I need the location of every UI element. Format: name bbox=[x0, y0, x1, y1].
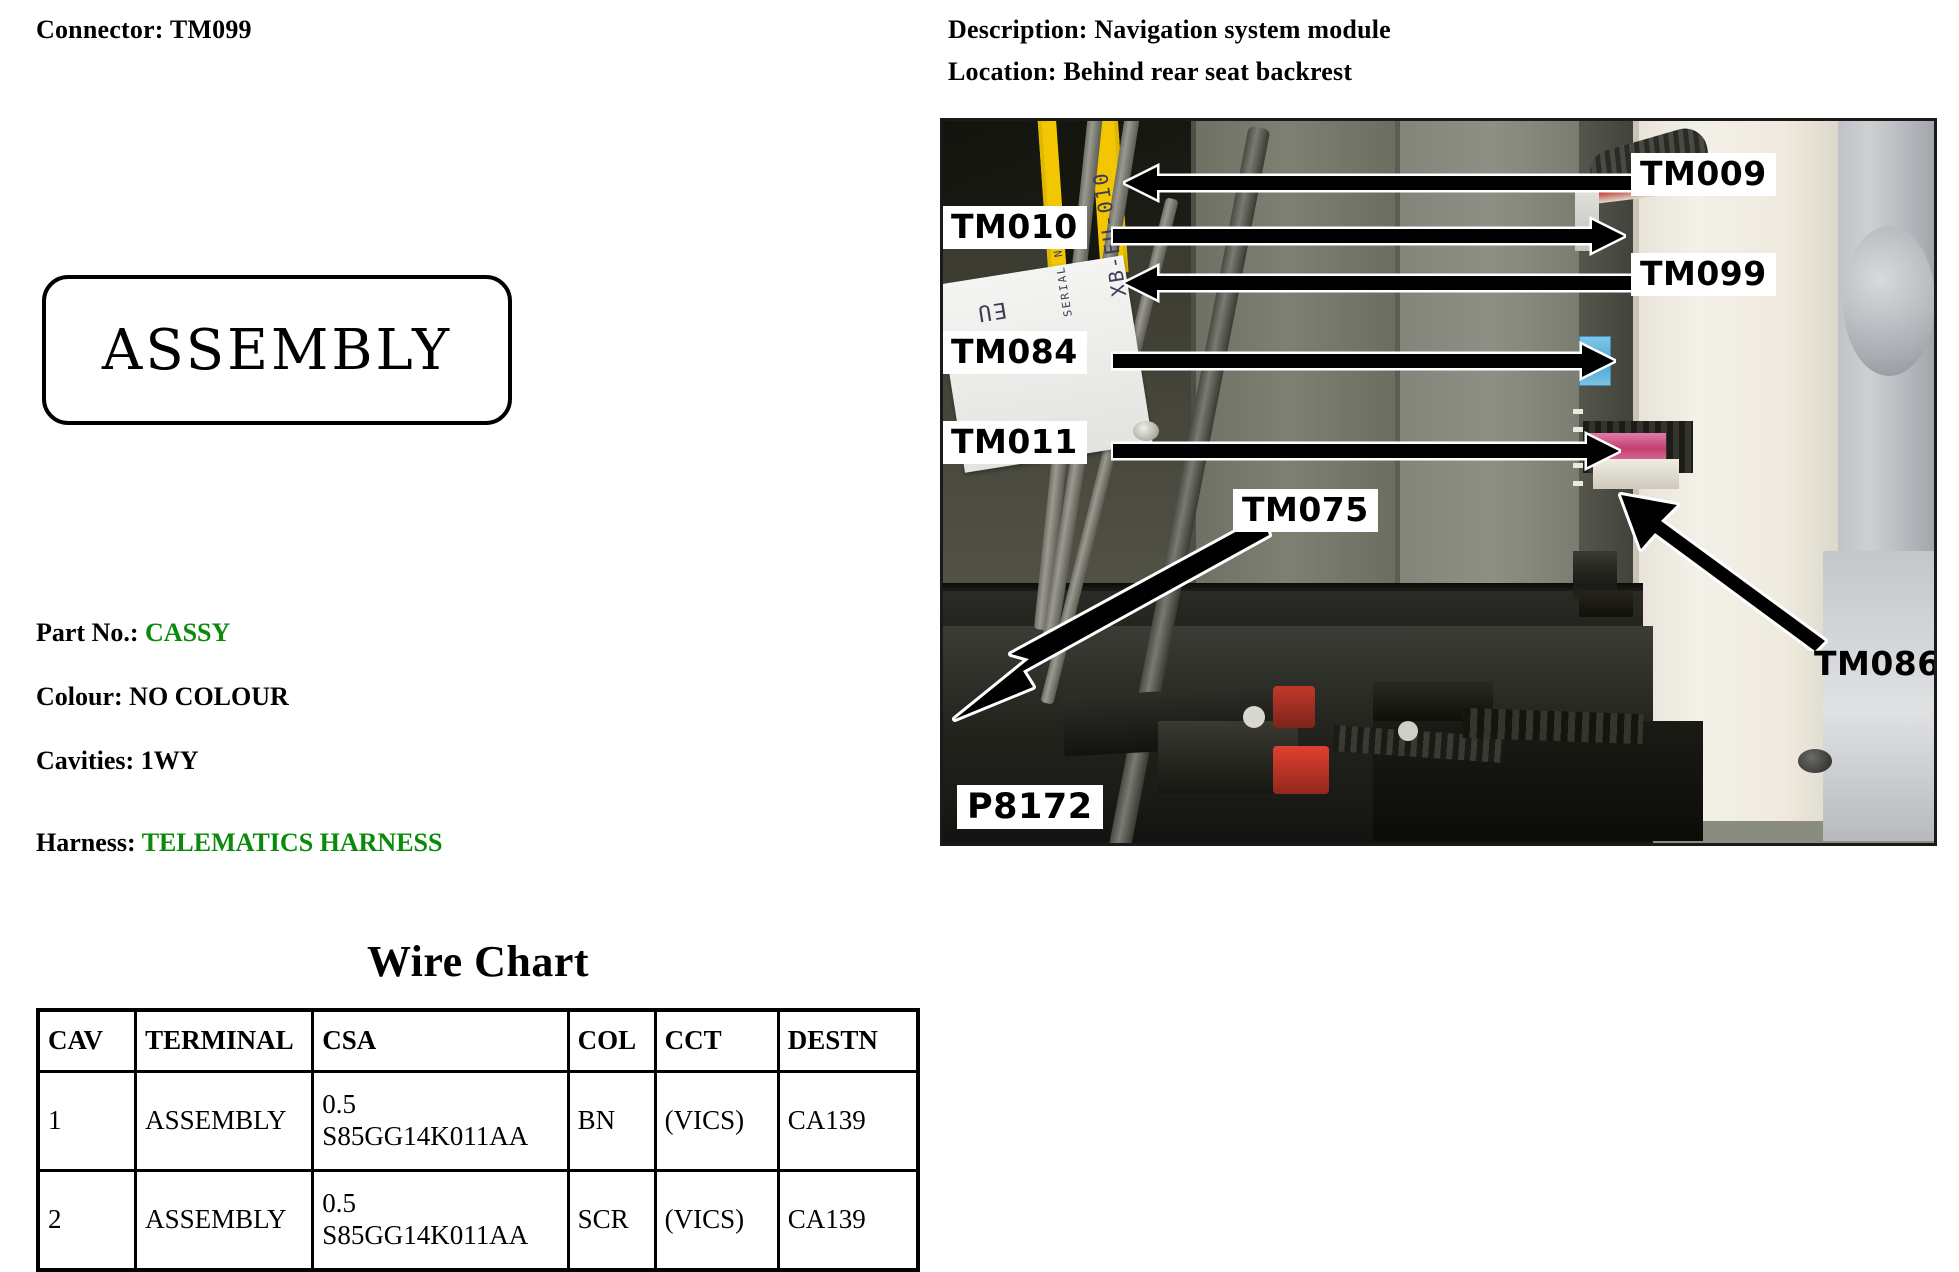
harness-value: TELEMATICS HARNESS bbox=[142, 828, 443, 857]
tm009-arrow bbox=[1123, 163, 1643, 203]
cavities-label: Cavities: bbox=[36, 746, 141, 775]
callout-label-tm086: TM086 bbox=[1805, 643, 1937, 686]
col-header-csa: CSA bbox=[313, 1010, 568, 1072]
tm010-arrow bbox=[1111, 216, 1626, 256]
wire-chart-table: CAV TERMINAL CSA COL CCT DESTN 1 ASSEMBL… bbox=[36, 1008, 920, 1272]
callout-label-tm084: TM084 bbox=[940, 331, 1087, 374]
connector-location-photo: EU SERIAL No XB-EU-010 TM009 bbox=[940, 118, 1937, 846]
photo-red-connector-2 bbox=[1273, 746, 1329, 794]
harness-row: Harness: TELEMATICS HARNESS bbox=[36, 828, 442, 858]
callout-label-tm010: TM010 bbox=[940, 206, 1087, 249]
description-heading: Description: Navigation system module bbox=[948, 15, 1391, 45]
callout-label-tm099: TM099 bbox=[1631, 253, 1776, 296]
tm011-arrow bbox=[1111, 431, 1621, 471]
location-label: Location: bbox=[948, 57, 1063, 86]
description-label: Description: bbox=[948, 15, 1094, 44]
colour-row: Colour: NO COLOUR bbox=[36, 682, 289, 712]
cell-terminal: ASSEMBLY bbox=[136, 1072, 313, 1171]
callout-label-tm009: TM009 bbox=[1631, 153, 1776, 196]
sticker-eu-text: EU bbox=[974, 296, 1008, 325]
cell-csa-line1: 0.5 bbox=[322, 1089, 558, 1121]
table-row: 2 ASSEMBLY 0.5 S85GG14K011AA SCR (VICS) … bbox=[38, 1171, 918, 1271]
connector-heading: Connector: TM099 bbox=[36, 15, 252, 45]
cell-terminal: ASSEMBLY bbox=[136, 1171, 313, 1271]
connector-detail-page: Connector: TM099 Description: Navigation… bbox=[0, 0, 1959, 1269]
cell-cav: 1 bbox=[38, 1072, 136, 1171]
cell-destn: CA139 bbox=[778, 1072, 918, 1171]
photo-bg-far-right-object bbox=[1843, 226, 1935, 376]
part-no-row: Part No.: CASSY bbox=[36, 618, 230, 648]
callout-label-tm075: TM075 bbox=[1233, 489, 1378, 532]
wire-chart-title: Wire Chart bbox=[36, 936, 920, 987]
location-heading: Location: Behind rear seat backrest bbox=[948, 57, 1352, 87]
cell-cct: (VICS) bbox=[655, 1072, 778, 1171]
col-header-terminal: TERMINAL bbox=[136, 1010, 313, 1072]
callout-label-tm011: TM011 bbox=[940, 421, 1087, 464]
colour-label: Colour: bbox=[36, 682, 129, 711]
location-value: Behind rear seat backrest bbox=[1063, 57, 1352, 86]
description-value: Navigation system module bbox=[1094, 15, 1391, 44]
col-header-col: COL bbox=[568, 1010, 655, 1072]
cell-col: BN bbox=[568, 1072, 655, 1171]
cell-cct: (VICS) bbox=[655, 1171, 778, 1271]
photo-dark-dot bbox=[1798, 749, 1832, 773]
col-header-cav: CAV bbox=[38, 1010, 136, 1072]
cell-csa-line2: S85GG14K011AA bbox=[322, 1121, 558, 1153]
cell-cav: 2 bbox=[38, 1171, 136, 1271]
tm084-arrow bbox=[1111, 341, 1616, 381]
harness-label: Harness: bbox=[36, 828, 142, 857]
photo-id-label: P8172 bbox=[957, 785, 1103, 829]
table-header-row: CAV TERMINAL CSA COL CCT DESTN bbox=[38, 1010, 918, 1072]
cavities-value: 1WY bbox=[141, 746, 199, 775]
connector-label: Connector: bbox=[36, 15, 170, 44]
cell-csa: 0.5 S85GG14K011AA bbox=[313, 1072, 568, 1171]
col-header-destn: DESTN bbox=[778, 1010, 918, 1072]
photo-red-connector-1 bbox=[1273, 686, 1315, 728]
cell-destn: CA139 bbox=[778, 1171, 918, 1271]
photo-bg-far-right-lower bbox=[1823, 551, 1937, 841]
cell-csa-line2: S85GG14K011AA bbox=[322, 1220, 558, 1252]
photo-white-clip-2 bbox=[1398, 721, 1418, 741]
photo-harness-part-5 bbox=[1463, 708, 1644, 744]
table-row: 1 ASSEMBLY 0.5 S85GG14K011AA BN (VICS) C… bbox=[38, 1072, 918, 1171]
connector-value: TM099 bbox=[170, 15, 252, 44]
tm075-arrow bbox=[940, 511, 1273, 731]
part-no-value: CASSY bbox=[145, 618, 230, 647]
cell-csa-line1: 0.5 bbox=[322, 1188, 558, 1220]
tm086-arrow bbox=[1615, 481, 1835, 651]
cell-col: SCR bbox=[568, 1171, 655, 1271]
cavities-row: Cavities: 1WY bbox=[36, 746, 198, 776]
cell-csa: 0.5 S85GG14K011AA bbox=[313, 1171, 568, 1271]
col-header-cct: CCT bbox=[655, 1010, 778, 1072]
part-no-label: Part No.: bbox=[36, 618, 145, 647]
assembly-label: ASSEMBLY bbox=[46, 279, 508, 421]
assembly-diagram-box: ASSEMBLY bbox=[42, 275, 512, 425]
tm099-arrow bbox=[1123, 263, 1643, 303]
colour-value: NO COLOUR bbox=[129, 682, 289, 711]
